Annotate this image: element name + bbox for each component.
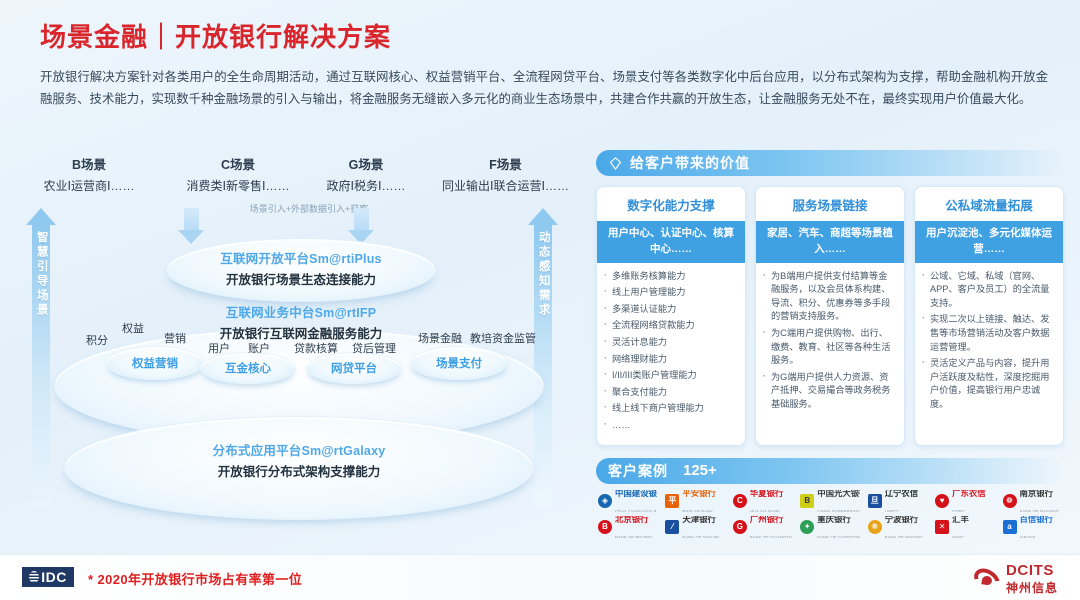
scene-column-f: F场景 同业输出Ⅰ联合运营Ⅰ…… bbox=[423, 154, 588, 194]
bank-mark-icon: 平 bbox=[665, 494, 679, 508]
scene-subtitle: 政府Ⅰ税务Ⅰ…… bbox=[301, 177, 431, 194]
module-label: 互金核心 bbox=[200, 360, 296, 376]
page-header: 场景金融｜开放银行解决方案 开放银行解决方案针对各类用户的全生命周期活动，通过互… bbox=[0, 0, 1080, 110]
list-item: 多维账务核算能力 bbox=[603, 270, 737, 284]
value-card-body: 公域、它域、私域（官网、APP、客户及员工）的全流量支持。 实现二次以上链接、触… bbox=[915, 263, 1063, 424]
value-card-body: 多维账务核算能力 线上用户管理能力 多渠道认证能力 全流程网络贷款能力 灵活计息… bbox=[597, 263, 745, 445]
bank-mark-icon: ♥ bbox=[935, 494, 949, 508]
capability-word: 营销 bbox=[164, 330, 186, 346]
bank-logo: ⁄天津银行BANK OF TIANJIN bbox=[663, 516, 726, 538]
bank-mark-icon: ❋ bbox=[868, 520, 882, 534]
dcits-logo: DCITS 神州信息 bbox=[973, 563, 1058, 597]
scene-subtitle: 同业输出Ⅰ联合运营Ⅰ…… bbox=[423, 177, 588, 194]
scene-title: C场景 bbox=[158, 154, 318, 173]
bank-mark-icon: C bbox=[733, 494, 747, 508]
bank-name-cn: 汇丰 bbox=[952, 516, 969, 524]
bank-mark-icon: 旦 bbox=[868, 494, 882, 508]
module-label: 网贷平台 bbox=[306, 360, 402, 376]
list-item: 为G端用户提供人力资源、资产抵押、交易撮合等政务税务基础服务。 bbox=[762, 371, 896, 412]
bank-name-cn: 辽宁农信 bbox=[885, 490, 919, 498]
list-item: 全流程网络贷款能力 bbox=[603, 319, 737, 333]
bank-mark-icon: ❁ bbox=[1003, 494, 1017, 508]
list-item: …… bbox=[603, 419, 737, 433]
bank-mark-icon: ⁄ bbox=[665, 520, 679, 534]
bank-name-en: BANK OF NINGBO bbox=[885, 535, 922, 538]
scene-subtitle: 农业Ⅰ运营商Ⅰ…… bbox=[14, 177, 164, 194]
value-card: 服务场景链接 家居、汽车、商超等场景植入…… 为B端用户提供支付结算等金融服务，… bbox=[755, 186, 905, 446]
bank-name-cn: 重庆银行 bbox=[817, 516, 851, 524]
platform-title: 开放银行分布式架构支撑能力 bbox=[134, 461, 464, 480]
list-item: 多渠道认证能力 bbox=[603, 303, 737, 317]
platform-label-1: 互联网开放平台Sm@rtiPlus 开放银行场景生态连接能力 bbox=[136, 248, 466, 288]
bank-name-en: China Construction Bank bbox=[615, 509, 657, 512]
bank-name-en: HSBC bbox=[952, 535, 964, 538]
flow-note: 场景引入+外部数据引入+获客 bbox=[214, 202, 404, 215]
bank-mark-icon: B bbox=[598, 520, 612, 534]
bank-name-cn: 华夏银行 bbox=[750, 490, 784, 498]
bank-logo: G广州银行BANK OF GUANGZHOU bbox=[731, 516, 794, 538]
value-card-band: 家居、汽车、商超等场景植入…… bbox=[756, 221, 904, 263]
bank-name-en: GDRC bbox=[952, 509, 965, 512]
list-item: 灵活计息能力 bbox=[603, 336, 737, 350]
cases-count: 125+ bbox=[683, 462, 717, 479]
scene-title: G场景 bbox=[301, 154, 431, 173]
bank-name-en: AIBANK bbox=[1020, 535, 1036, 538]
bank-logo: 旦辽宁农信LNRCC bbox=[866, 490, 929, 512]
bank-name-cn: 广东农信 bbox=[952, 490, 986, 498]
bank-name-cn: 中国光大银行 bbox=[817, 490, 859, 498]
module-label: 权益营销 bbox=[106, 355, 204, 371]
bank-name-en: BANK OF TIANJIN bbox=[682, 535, 719, 538]
page-footer: IDC * 2020年开放银行市场占有率第一位 DCITS 神州信息 bbox=[0, 554, 1080, 600]
list-item: I/II/III类账户管理能力 bbox=[603, 369, 737, 383]
list-item: 网络理财能力 bbox=[603, 353, 737, 367]
value-card-title: 数字化能力支撑 bbox=[597, 187, 745, 221]
scene-column-b: B场景 农业Ⅰ运营商Ⅰ…… bbox=[14, 154, 164, 194]
bank-mark-icon: B bbox=[800, 494, 814, 508]
value-section-header: 给客户带来的价值 bbox=[596, 150, 1064, 176]
brand-name-en: DCITS bbox=[1006, 562, 1054, 579]
bank-name-en: PING AN BANK bbox=[682, 509, 713, 512]
platform-subtitle: 互联网业务中台Sm@rtIFP bbox=[136, 302, 466, 321]
bank-logo: ✕汇丰HSBC bbox=[933, 516, 996, 538]
scene-title: F场景 bbox=[423, 154, 588, 173]
capability-word: 积分 bbox=[86, 332, 108, 348]
capability-word: 贷后管理 bbox=[352, 340, 396, 356]
idc-label: IDC bbox=[41, 569, 67, 585]
arrow-down-g bbox=[348, 208, 374, 244]
list-item: 聚合支付能力 bbox=[603, 386, 737, 400]
bank-name-cn: 北京银行 bbox=[615, 516, 649, 524]
list-item: 公域、它域、私域（官网、APP、客户及员工）的全流量支持。 bbox=[921, 270, 1055, 311]
bank-name-cn: 中国建设银行 bbox=[615, 490, 657, 498]
bank-logo: ❁南京银行BANK OF NANJING bbox=[1001, 490, 1064, 512]
bank-logo: B中国光大银行CHINA EVERBRIGHT BANK bbox=[798, 490, 861, 512]
list-item: 实现二次以上链接、触达、发售等市场营销活动及客户数据运营管理。 bbox=[921, 313, 1055, 354]
value-card-band: 用户中心、认证中心、核算中心…… bbox=[597, 221, 745, 263]
bank-logo: ✦重庆银行BANK OF CHONGQING bbox=[798, 516, 861, 538]
bank-logo: C华夏银行HUA XIA BANK bbox=[731, 490, 794, 512]
capability-word: 用户 bbox=[208, 340, 230, 356]
scene-subtitle: 消费类Ⅰ新零售Ⅰ…… bbox=[158, 177, 318, 194]
left-arrow-smart-guide: 智慧引导场景 bbox=[26, 208, 56, 508]
list-item: 为B端用户提供支付结算等金融服务，以及会员体系构建、导流、积分、优惠券等多手段的… bbox=[762, 270, 896, 324]
bank-name-cn: 南京银行 bbox=[1020, 490, 1054, 498]
bank-name-cn: 平安银行 bbox=[682, 490, 716, 498]
value-card: 数字化能力支撑 用户中心、认证中心、核算中心…… 多维账务核算能力 线上用户管理… bbox=[596, 186, 746, 446]
bank-name-en: BANK OF GUANGZHOU bbox=[750, 535, 792, 538]
right-panel: 给客户带来的价值 数字化能力支撑 用户中心、认证中心、核算中心…… 多维账务核算… bbox=[596, 150, 1064, 542]
diamond-icon bbox=[608, 156, 623, 171]
platform-subtitle: 互联网开放平台Sm@rtiPlus bbox=[136, 248, 466, 267]
intro-paragraph: 开放银行解决方案针对各类用户的全生命周期活动，通过互联网核心、权益营销平台、全流… bbox=[40, 67, 1048, 110]
bank-name-en: BANK OF BEIJING bbox=[615, 535, 652, 538]
capability-word: 教培资金监管 bbox=[470, 330, 536, 346]
arrow-head-icon bbox=[528, 208, 558, 225]
bank-logo: 平平安银行PING AN BANK bbox=[663, 490, 726, 512]
page-title: 场景金融｜开放银行解决方案 bbox=[40, 22, 1046, 53]
footer-note: * 2020年开放银行市场占有率第一位 bbox=[88, 569, 302, 588]
bank-logo: a百信银行AIBANK bbox=[1001, 516, 1064, 538]
platform-subtitle: 分布式应用平台Sm@rtGalaxy bbox=[134, 440, 464, 459]
bank-name-en: CHINA EVERBRIGHT BANK bbox=[817, 509, 859, 512]
main-content: B场景 农业Ⅰ运营商Ⅰ…… C场景 消费类Ⅰ新零售Ⅰ…… G场景 政府Ⅰ税务Ⅰ…… bbox=[0, 150, 1080, 550]
cases-section-title: 客户案例 bbox=[608, 461, 668, 481]
capability-word: 贷款核算 bbox=[294, 340, 338, 356]
list-item: 线上线下商户管理能力 bbox=[603, 402, 737, 416]
bank-name-cn: 天津银行 bbox=[682, 516, 716, 524]
globe-icon bbox=[29, 571, 39, 583]
brand-name-cn: 神州信息 bbox=[1006, 581, 1058, 595]
value-card-band: 用户沉淀池、多元化媒体运营…… bbox=[915, 221, 1063, 263]
bank-mark-icon: ✦ bbox=[800, 520, 814, 534]
bank-name-cn: 宁波银行 bbox=[885, 516, 919, 524]
cases-section-header: 客户案例 125+ bbox=[596, 458, 1064, 484]
customer-logos: ◈中国建设银行China Construction Bank 平平安银行PING… bbox=[596, 490, 1064, 538]
platform-label-3: 分布式应用平台Sm@rtGalaxy 开放银行分布式架构支撑能力 bbox=[134, 440, 464, 480]
capability-word: 场景金融 bbox=[418, 330, 462, 346]
bank-name-en: BANK OF NANJING bbox=[1020, 509, 1059, 512]
architecture-diagram: B场景 农业Ⅰ运营商Ⅰ…… C场景 消费类Ⅰ新零售Ⅰ…… G场景 政府Ⅰ税务Ⅰ…… bbox=[18, 150, 580, 550]
module-label: 场景支付 bbox=[410, 355, 508, 371]
capability-word: 权益 bbox=[122, 320, 144, 336]
scene-column-c: C场景 消费类Ⅰ新零售Ⅰ…… bbox=[158, 154, 318, 194]
bank-mark-icon: a bbox=[1003, 520, 1017, 534]
bank-name-en: LNRCC bbox=[885, 509, 900, 512]
value-cards: 数字化能力支撑 用户中心、认证中心、核算中心…… 多维账务核算能力 线上用户管理… bbox=[596, 186, 1064, 446]
value-card-title: 公私域流量拓展 bbox=[915, 187, 1063, 221]
bank-mark-icon: ✕ bbox=[935, 520, 949, 534]
swirl-icon bbox=[973, 568, 1001, 592]
bank-mark-icon: G bbox=[733, 520, 747, 534]
scene-title: B场景 bbox=[14, 154, 164, 173]
bank-name-en: HUA XIA BANK bbox=[750, 509, 780, 512]
value-card-body: 为B端用户提供支付结算等金融服务，以及会员体系构建、导流、积分、优惠券等多手段的… bbox=[756, 263, 904, 424]
value-section-title: 给客户带来的价值 bbox=[630, 153, 750, 173]
value-card: 公私域流量拓展 用户沉淀池、多元化媒体运营…… 公域、它域、私域（官网、APP、… bbox=[914, 186, 1064, 446]
bank-logo: ◈中国建设银行China Construction Bank bbox=[596, 490, 659, 512]
arrow-head-icon bbox=[26, 208, 56, 225]
idc-logo: IDC bbox=[22, 567, 74, 587]
bank-logo: B北京银行BANK OF BEIJING bbox=[596, 516, 659, 538]
arrow-down-c bbox=[178, 208, 204, 244]
bank-name-cn: 广州银行 bbox=[750, 516, 784, 524]
right-arrow-label: 动态感知需求 bbox=[537, 231, 549, 318]
left-arrow-label: 智慧引导场景 bbox=[35, 231, 47, 318]
scene-column-g: G场景 政府Ⅰ税务Ⅰ…… bbox=[301, 154, 431, 194]
logo-row-1: ◈中国建设银行China Construction Bank 平平安银行PING… bbox=[596, 490, 1064, 512]
list-item: 为C端用户提供购物、出行、缴费、教育、社区等各种生活服务。 bbox=[762, 327, 896, 368]
bank-mark-icon: ◈ bbox=[598, 494, 612, 508]
value-card-title: 服务场景链接 bbox=[756, 187, 904, 221]
bank-name-en: BANK OF CHONGQING bbox=[817, 535, 859, 538]
bank-logo: ♥广东农信GDRC bbox=[933, 490, 996, 512]
logo-row-2: B北京银行BANK OF BEIJING ⁄天津银行BANK OF TIANJI… bbox=[596, 516, 1064, 538]
list-item: 灵活定义产品与内容，提升用户活跃度及粘性，深度挖掘用户价值，提高银行用户忠诚度。 bbox=[921, 357, 1055, 411]
bank-name-cn: 百信银行 bbox=[1020, 516, 1054, 524]
bank-logo: ❋宁波银行BANK OF NINGBO bbox=[866, 516, 929, 538]
list-item: 线上用户管理能力 bbox=[603, 286, 737, 300]
capability-word: 账户 bbox=[248, 340, 270, 356]
platform-title: 开放银行场景生态连接能力 bbox=[136, 269, 466, 288]
